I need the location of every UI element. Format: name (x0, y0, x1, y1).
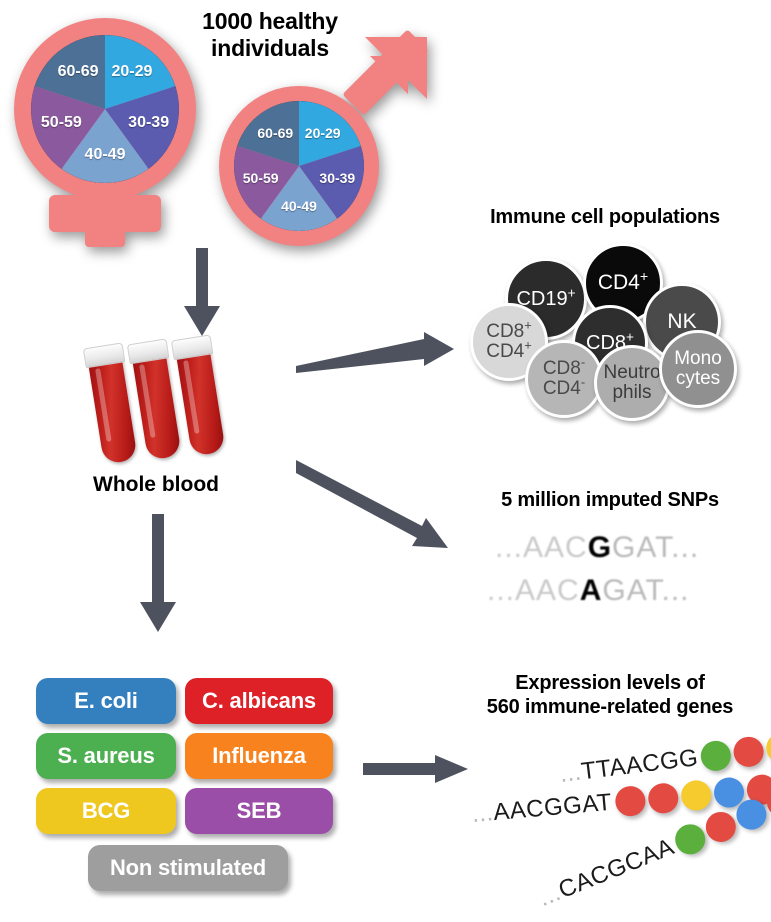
gene-strand-bases: AACGGAT (492, 789, 613, 826)
gene-strand-bases: CACGCAA (555, 833, 678, 904)
gene-strand-dot (647, 782, 680, 815)
figure-canvas: 20-2930-3940-4950-5960-69 20-2930-3940-4… (0, 0, 771, 922)
gene-strand-dot (765, 731, 771, 764)
gene-strand-bases: TTAACGG (580, 744, 700, 785)
gene-strand-sequence: ...AACGGAT (471, 789, 613, 829)
gene-strand-dot (679, 779, 712, 812)
gene-strand-dot (699, 739, 732, 772)
gene-strands: ...TTAACGG...AACGGAT...CACGCAA (0, 0, 771, 922)
gene-strand-dot (614, 785, 647, 818)
gene-strand-sequence: ...CACGCAA (535, 833, 679, 913)
gene-strand-dot (732, 735, 765, 768)
gene-strand-prefix: ... (471, 799, 495, 828)
gene-strand-dot (701, 808, 740, 847)
